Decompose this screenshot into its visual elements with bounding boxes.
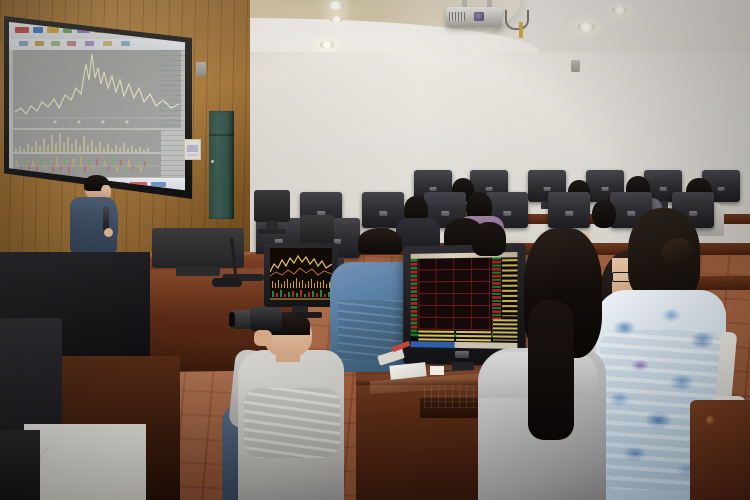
cable-loop <box>40 440 114 478</box>
screen-side-quote-panel <box>159 50 185 178</box>
wall-speaker <box>571 60 580 72</box>
screen-price-chart-panel <box>13 50 181 128</box>
screen-volume-panel <box>13 130 161 152</box>
podium-monitor <box>254 190 290 222</box>
projector-vent <box>449 12 465 21</box>
student-head <box>592 200 616 228</box>
instructor-hand <box>104 228 113 237</box>
student-monitor <box>548 192 590 228</box>
projection-screen <box>9 22 185 192</box>
student-hair <box>358 228 402 254</box>
quote-side-rows <box>502 259 517 316</box>
classroom-door[interactable] <box>209 111 234 219</box>
plaque-graphic <box>187 145 198 152</box>
order-book-panel-side <box>493 319 517 341</box>
ceiling-downlight <box>330 16 343 23</box>
screen-ribbon <box>9 39 185 50</box>
door-knob-icon[interactable] <box>211 160 214 163</box>
price-line-chart <box>13 50 181 128</box>
paper-sheet <box>430 366 444 375</box>
podium-side-monitor <box>300 215 334 245</box>
wall-speaker <box>196 62 206 76</box>
quote-grid <box>418 258 491 331</box>
classroom-photo <box>0 0 750 500</box>
monitor-brand-logo <box>455 351 469 358</box>
foreground-monitor-edge <box>0 430 40 500</box>
wooden-chair-back[interactable] <box>690 400 750 500</box>
ceiling-downlight <box>320 41 334 49</box>
chair-finial <box>706 416 715 425</box>
left-trading-screen <box>270 248 332 300</box>
dslr-camera <box>250 307 282 331</box>
camera-lens-front <box>229 312 235 327</box>
wall-plaque <box>184 139 201 160</box>
ceiling-downlight <box>577 22 595 32</box>
ceiling-projector <box>446 7 502 27</box>
podium-monitor-base <box>258 229 286 234</box>
projector-lens-icon <box>474 12 484 21</box>
door-panel-line <box>209 134 234 136</box>
podium-console-monitor <box>152 228 244 268</box>
shirt-creases <box>244 388 340 458</box>
ceiling-downlight <box>612 6 627 14</box>
hair-fall <box>528 300 574 440</box>
microphone-base <box>212 278 242 287</box>
photographer-hand <box>254 330 272 346</box>
trading-monitor-screen[interactable] <box>411 252 518 349</box>
hair-bun <box>662 238 694 268</box>
ceiling-downlight <box>327 1 344 10</box>
projector-cable <box>505 10 529 30</box>
plaque-text-bar <box>187 154 198 156</box>
projector-power-cable <box>519 22 523 38</box>
bid-ask-ladder-left <box>411 259 418 334</box>
student-hair <box>472 222 506 256</box>
podium-console-base <box>176 266 220 276</box>
